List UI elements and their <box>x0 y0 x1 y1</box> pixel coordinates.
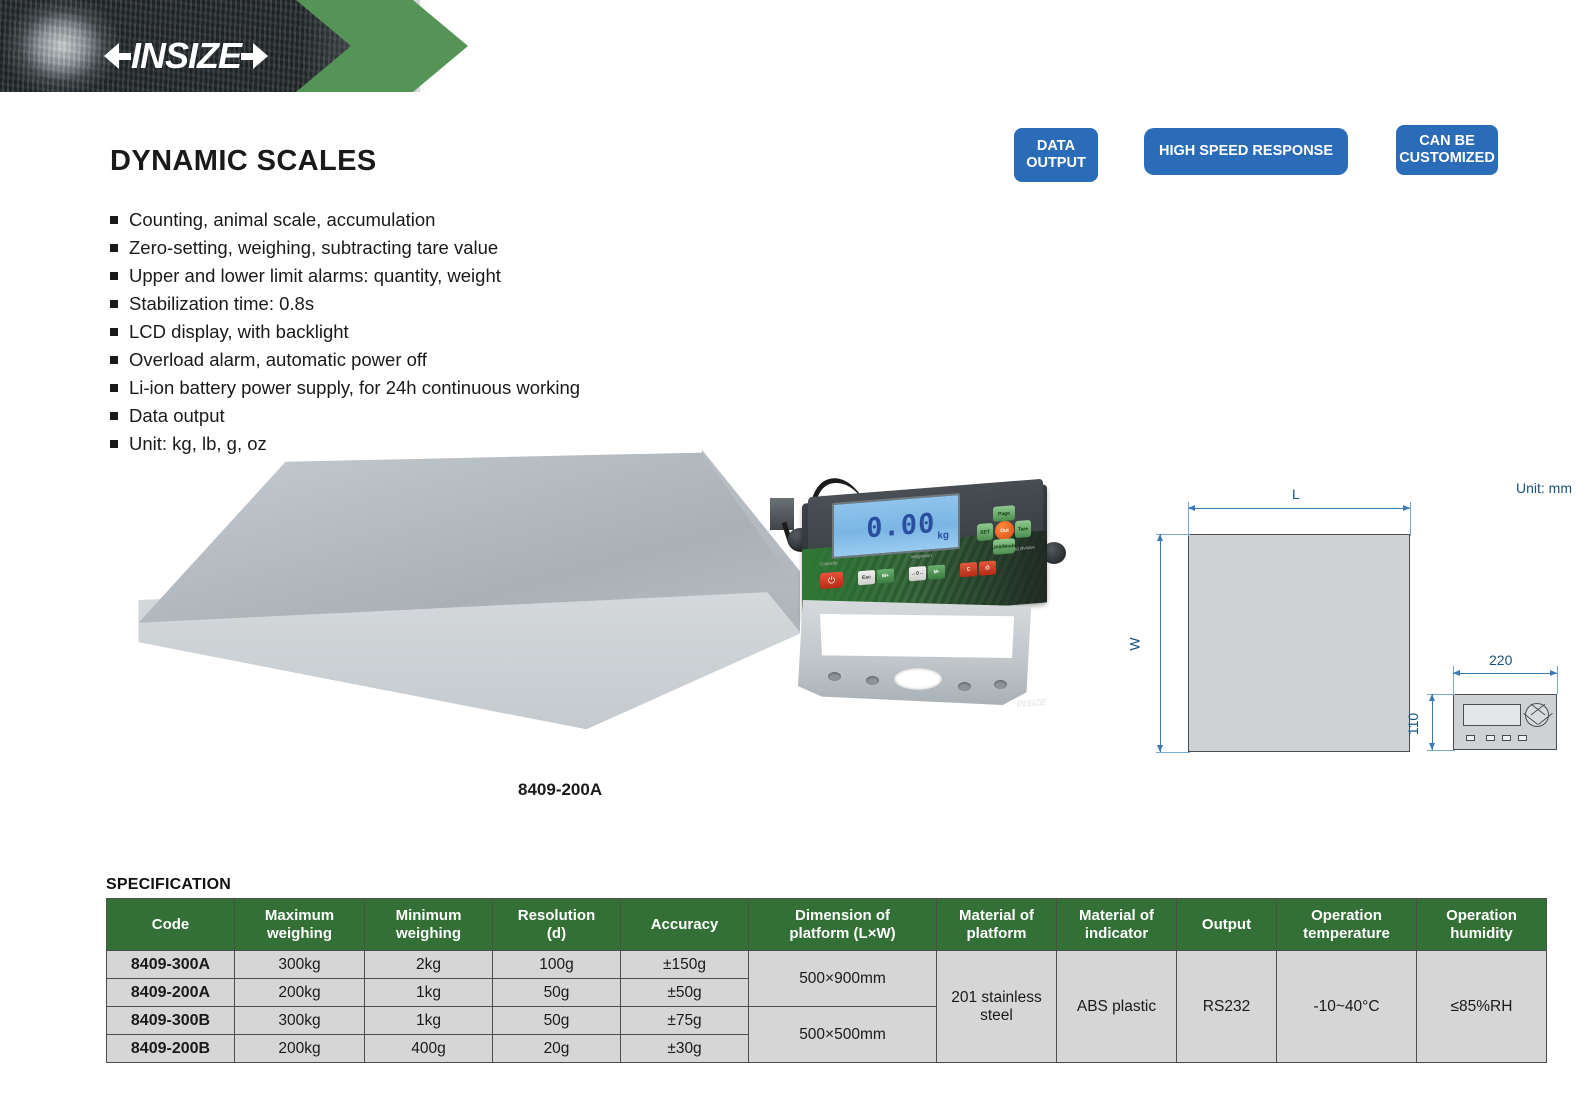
table-header-cell: Operationhumidity <box>1417 899 1547 951</box>
d110-dimension-line <box>1432 694 1433 750</box>
header-line-1: Output <box>1179 916 1274 933</box>
header-line-2: (d) <box>495 925 618 942</box>
cell-max: 200kg <box>235 1035 365 1063</box>
cell-operation-temperature: -10~40°C <box>1277 951 1417 1063</box>
cell-dimension: 500×900mm <box>749 951 937 1007</box>
esc-button[interactable]: Esc <box>858 570 875 585</box>
table-header-cell: Maximumweighing <box>235 899 365 951</box>
indicator-outline-screen <box>1463 704 1521 726</box>
indicator-outline-btn-3 <box>1502 735 1511 741</box>
header-line-1: Accuracy <box>623 916 746 933</box>
l-dimension-line <box>1188 508 1410 509</box>
button-pair-clear[interactable]: C ⎙ <box>960 560 996 577</box>
header-line-1: Resolution <box>495 907 618 924</box>
w-label: W <box>1127 637 1143 650</box>
lcd-weight-unit: kg <box>937 530 949 542</box>
cell-res: 100g <box>493 951 621 979</box>
badge-can-be-customized: CAN BE CUSTOMIZED <box>1396 125 1498 175</box>
cell-code: 8409-300B <box>107 1007 235 1035</box>
w-arrow-up-icon <box>1157 534 1163 541</box>
cell-operation-humidity: ≤85%RH <box>1417 951 1547 1063</box>
d220-arrow-left-icon <box>1453 670 1460 676</box>
m-plus-button[interactable]: M+ <box>877 568 894 583</box>
d110-arrow-down-icon <box>1429 743 1435 750</box>
dimension-unit-note: Unit: mm <box>1516 480 1572 496</box>
print-button[interactable]: ⎙ <box>979 560 996 575</box>
cell-res: 50g <box>493 979 621 1007</box>
bullet-square-icon <box>110 300 118 308</box>
badge-high-speed-response-label: HIGH SPEED RESPONSE <box>1159 143 1333 160</box>
header-line-1: Dimension of <box>751 907 934 924</box>
header-line-1: Operation <box>1279 907 1414 924</box>
indicator-dpad[interactable]: Page SET Out Tare Unit/Mode <box>977 504 1031 556</box>
cell-material-platform: 201 stainless steel <box>937 951 1057 1063</box>
indicator-unit-image: 0.00 kg Capacity Integration Analog divi… <box>780 480 1070 738</box>
feature-item: Zero-setting, weighing, subtracting tare… <box>110 236 750 261</box>
cell-max: 200kg <box>235 979 365 1007</box>
table-header-cell: Operationtemperature <box>1277 899 1417 951</box>
header-line-2: platform <box>939 925 1054 942</box>
feature-item: Overload alarm, automatic power off <box>110 348 750 373</box>
header-line-2: platform (L×W) <box>751 925 934 942</box>
bracket-hole-2 <box>866 676 879 685</box>
logo-bar-left <box>117 53 131 60</box>
bullet-square-icon <box>110 272 118 280</box>
l-arrow-left-icon <box>1188 505 1195 511</box>
cell-max: 300kg <box>235 1007 365 1035</box>
table-header-cell: Output <box>1177 899 1277 951</box>
badge-data-output: DATA OUTPUT <box>1014 128 1098 182</box>
dpad-up-button[interactable]: Page <box>993 505 1015 522</box>
indicator-outline <box>1453 694 1557 750</box>
cell-material-indicator: ABS plastic <box>1057 951 1177 1063</box>
specification-title: SPECIFICATION <box>106 876 231 894</box>
dpad-right-button[interactable]: Tare <box>1015 520 1031 538</box>
table-header-cell: Dimension ofplatform (L×W) <box>749 899 937 951</box>
product-datasheet-page: INSIZE DYNAMIC SCALES DATA OUTPUT HIGH S… <box>0 0 1588 1098</box>
table-header-row: CodeMaximumweighingMinimumweighingResolu… <box>107 899 1547 951</box>
indicator-outline-btn-2 <box>1486 735 1495 741</box>
cell-max: 300kg <box>235 951 365 979</box>
insize-logo: INSIZE <box>96 33 276 79</box>
indicator-height-label: 110 <box>1405 713 1421 735</box>
cell-code: 8409-300A <box>107 951 235 979</box>
feature-item: Stabilization time: 0.8s <box>110 292 750 317</box>
w-arrow-down-icon <box>1157 745 1163 752</box>
header-line-2: weighing <box>367 925 490 942</box>
cell-dimension: 500×500mm <box>749 1007 937 1063</box>
header-line-2: humidity <box>1419 925 1544 942</box>
feature-text: Zero-setting, weighing, subtracting tare… <box>129 236 498 261</box>
cell-acc: ±150g <box>621 951 749 979</box>
platform-outline <box>1188 534 1410 752</box>
header-line-2: weighing <box>237 925 362 942</box>
feature-item: Counting, animal scale, accumulation <box>110 208 750 233</box>
d220-arrow-right-icon <box>1550 670 1557 676</box>
dimension-drawing: Unit: mm L W 220 <box>1100 468 1580 768</box>
dpad-down-button[interactable]: Unit/Mode <box>993 538 1015 555</box>
feature-text: Data output <box>129 404 225 429</box>
bracket-center-slot <box>894 668 942 690</box>
bullet-square-icon <box>110 356 118 364</box>
header-line-1: Maximum <box>237 907 362 924</box>
bullet-square-icon <box>110 384 118 392</box>
dpad-left-button[interactable]: SET <box>977 523 993 541</box>
feature-text: Counting, animal scale, accumulation <box>129 208 435 233</box>
bracket-hole-3 <box>958 682 971 691</box>
l-ext-right <box>1410 502 1411 536</box>
cell-output: RS232 <box>1177 951 1277 1063</box>
m-minus-button[interactable]: M- <box>928 564 945 579</box>
cell-min: 1kg <box>365 1007 493 1035</box>
header-line-1: Minimum <box>367 907 490 924</box>
right-arrow-icon <box>253 43 268 69</box>
cell-min: 2kg <box>365 951 493 979</box>
badge-data-output-line2: OUTPUT <box>1026 155 1086 171</box>
specification-table: CodeMaximumweighingMinimumweighingResolu… <box>106 898 1547 1063</box>
l-arrow-right-icon <box>1403 505 1410 511</box>
table-row: 8409-300A300kg2kg100g±150g500×900mm201 s… <box>107 951 1547 979</box>
lcd-weight-value: 0.00 <box>866 507 935 543</box>
header-line-2: temperature <box>1279 925 1414 942</box>
indicator-outline-btn-4 <box>1518 735 1527 741</box>
header-line-1: Material of <box>939 907 1054 924</box>
w-dimension-line <box>1160 534 1161 752</box>
cell-acc: ±50g <box>621 979 749 1007</box>
bracket-inner-cutout <box>818 614 1016 658</box>
zero-button[interactable]: ↔0↔ <box>909 566 926 581</box>
w-ext-bottom <box>1156 752 1190 753</box>
indicator-outline-dpad-icon <box>1525 703 1549 727</box>
indicator-outline-btn-1 <box>1466 735 1475 741</box>
badge-can-be-customized-line2: CUSTOMIZED <box>1399 150 1495 166</box>
cell-res: 20g <box>493 1035 621 1063</box>
indicator-mounting-bracket <box>798 600 1036 710</box>
feature-list: Counting, animal scale, accumulationZero… <box>110 208 750 460</box>
cell-code: 8409-200A <box>107 979 235 1007</box>
cell-min: 1kg <box>365 979 493 1007</box>
indicator-width-label: 220 <box>1489 652 1512 668</box>
feature-text: Li-ion battery power supply, for 24h con… <box>129 376 580 401</box>
header-line-1: Material of <box>1059 907 1174 924</box>
product-photo: 0.00 kg Capacity Integration Analog divi… <box>90 438 1070 758</box>
d110-arrow-up-icon <box>1429 694 1435 701</box>
power-button[interactable]: ⏻ <box>820 571 843 589</box>
cell-code: 8409-200B <box>107 1035 235 1063</box>
feature-item: Upper and lower limit alarms: quantity, … <box>110 264 750 289</box>
cell-acc: ±75g <box>621 1007 749 1035</box>
bracket-hole-1 <box>828 672 841 681</box>
header-line-1: Code <box>109 916 232 933</box>
cell-res: 50g <box>493 1007 621 1035</box>
table-header-cell: Code <box>107 899 235 951</box>
table-header-cell: Accuracy <box>621 899 749 951</box>
bullet-square-icon <box>110 412 118 420</box>
d220-ext-right <box>1557 666 1558 694</box>
feature-text: Stabilization time: 0.8s <box>129 292 314 317</box>
feature-item: Li-ion battery power supply, for 24h con… <box>110 376 750 401</box>
d220-dimension-line <box>1453 673 1557 674</box>
logo-text: INSIZE <box>131 38 241 74</box>
feature-item: LCD display, with backlight <box>110 320 750 345</box>
badge-can-be-customized-line1: CAN BE <box>1419 133 1475 149</box>
l-label: L <box>1292 486 1300 502</box>
bullet-square-icon <box>110 244 118 252</box>
header-line-2: indicator <box>1059 925 1174 942</box>
feature-text: Overload alarm, automatic power off <box>129 348 427 373</box>
table-header-cell: Material ofindicator <box>1057 899 1177 951</box>
bracket-hole-4 <box>994 680 1007 689</box>
feature-item: Data output <box>110 404 750 429</box>
page-title: DYNAMIC SCALES <box>110 145 377 178</box>
page-header: INSIZE <box>0 0 1588 92</box>
bullet-square-icon <box>110 216 118 224</box>
table-header-cell: Material ofplatform <box>937 899 1057 951</box>
feature-text: LCD display, with backlight <box>129 320 349 345</box>
badge-high-speed-response: HIGH SPEED RESPONSE <box>1144 128 1348 175</box>
indicator-lcd-screen: 0.00 kg <box>832 493 960 559</box>
d110-ext-bottom <box>1427 750 1455 751</box>
badge-data-output-line1: DATA <box>1037 138 1075 154</box>
button-pair-zero[interactable]: ↔0↔ M- <box>909 564 945 581</box>
cell-acc: ±30g <box>621 1035 749 1063</box>
weighing-platform-image <box>100 448 800 738</box>
table-header-cell: Resolution(d) <box>493 899 621 951</box>
cell-min: 400g <box>365 1035 493 1063</box>
bullet-square-icon <box>110 328 118 336</box>
table-header-cell: Minimumweighing <box>365 899 493 951</box>
product-model-label: 8409-200A <box>518 780 602 800</box>
clear-button[interactable]: C <box>960 562 977 577</box>
button-pair-esc[interactable]: Esc M+ <box>858 568 894 585</box>
feature-text: Upper and lower limit alarms: quantity, … <box>129 264 501 289</box>
header-line-1: Operation <box>1419 907 1544 924</box>
